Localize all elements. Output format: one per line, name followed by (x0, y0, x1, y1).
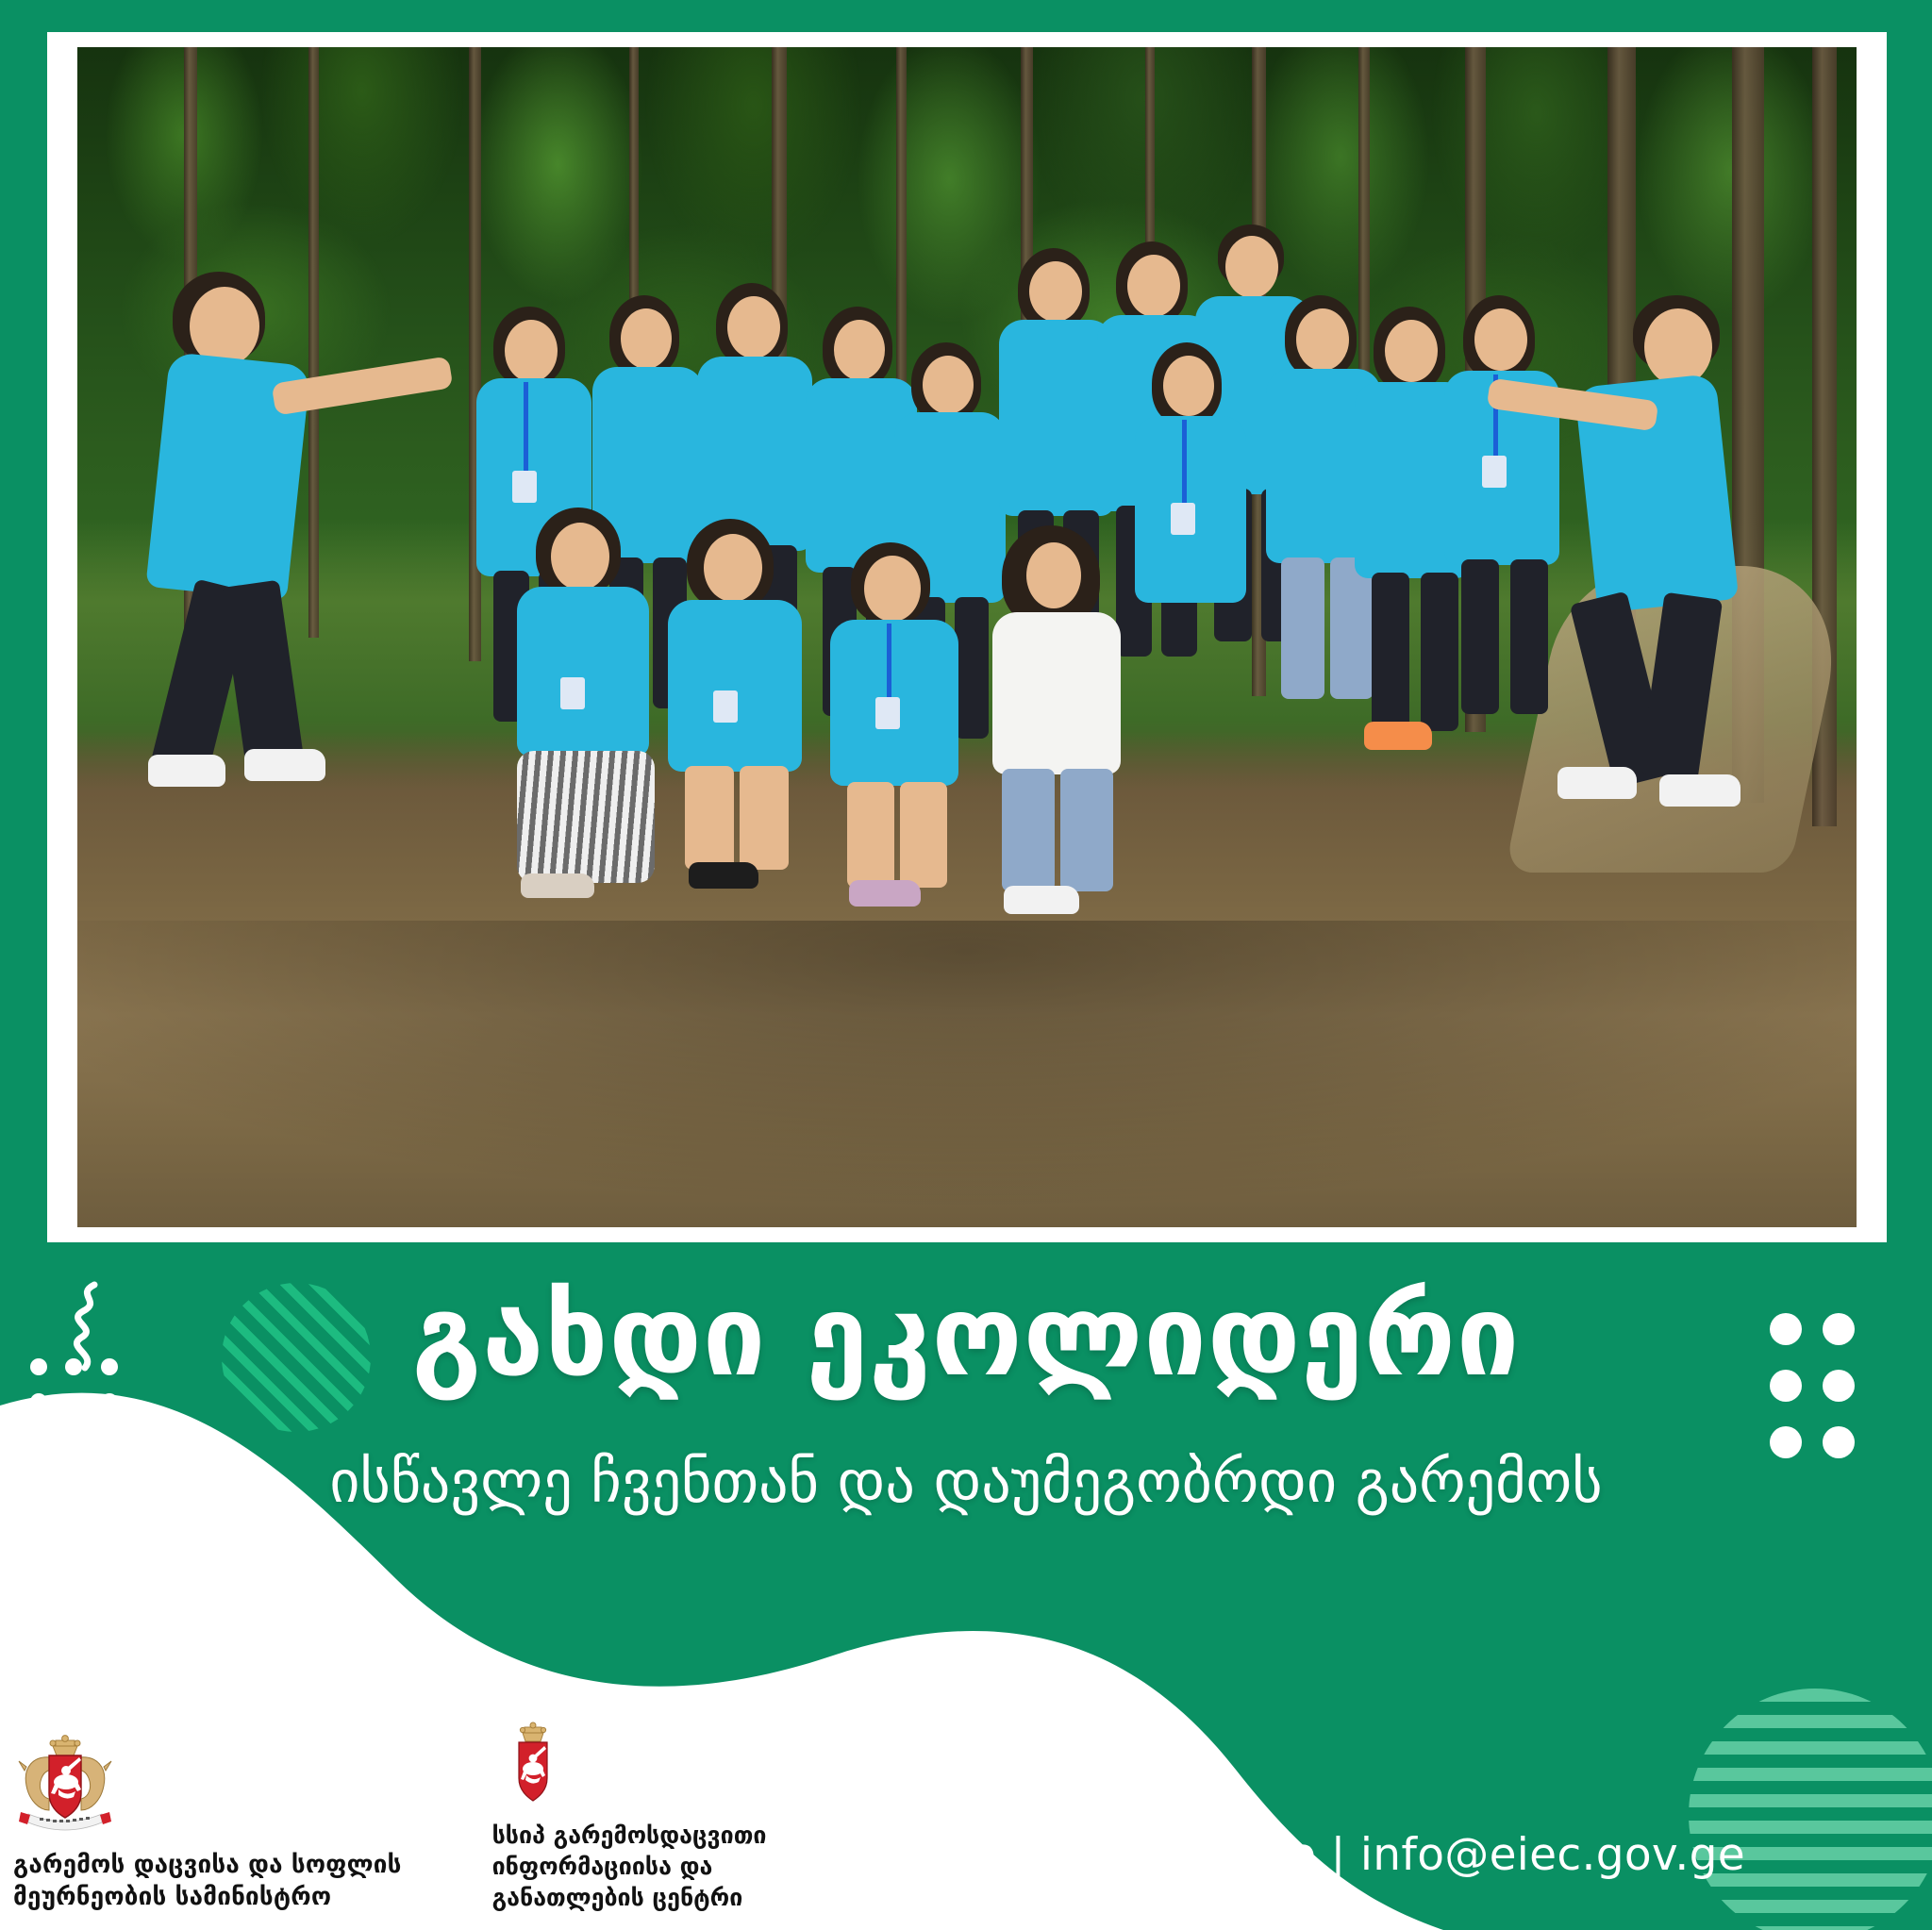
poster-canvas: გახდი ეკოლიდერი ისწავლე ჩვენთან და დაუმე… (0, 0, 1932, 1930)
participant (131, 272, 487, 1074)
ministry-caption: გარემოს დაცვისა და სოფლის მეურნეობის სამ… (13, 1850, 402, 1913)
center-logo-block: სსიპ გარემოსდაცვითი ინფორმაციისა და განა… (492, 1722, 767, 1913)
center-caption-line1: სსიპ გარემოსდაცვითი (492, 1820, 767, 1851)
georgia-shield-icon (504, 1722, 562, 1808)
ministry-logo-block: გარემოს დაცვისა და სოფლის მეურნეობის სამ… (13, 1735, 402, 1913)
center-caption-line2: ინფორმაციისა და (492, 1851, 767, 1882)
participant (985, 525, 1163, 1021)
striped-circle-horizontal-icon (1689, 1689, 1932, 1930)
ministry-caption-line2: მეურნეობის სამინისტრო (13, 1882, 402, 1913)
group-photo (77, 47, 1857, 1227)
participant (824, 542, 1003, 1038)
participant (664, 519, 842, 1014)
footer-logos: გარემოს დაცვისა და სოფლის მეურნეობის სამ… (13, 1722, 767, 1913)
participant (1554, 295, 1857, 1074)
photo-frame (47, 32, 1887, 1242)
ministry-caption-line1: გარემოს დაცვისა და სოფლის (13, 1850, 402, 1881)
georgia-coat-of-arms-icon (13, 1735, 117, 1837)
center-caption-line3: განათლების ცენტრი (492, 1882, 767, 1913)
contact-info[interactable]: www.eiec.gov.ge | info@eiec.gov.ge (941, 1829, 1745, 1881)
center-caption: სსიპ გარემოსდაცვითი ინფორმაციისა და განა… (492, 1820, 767, 1913)
participants-group (77, 47, 1857, 1227)
